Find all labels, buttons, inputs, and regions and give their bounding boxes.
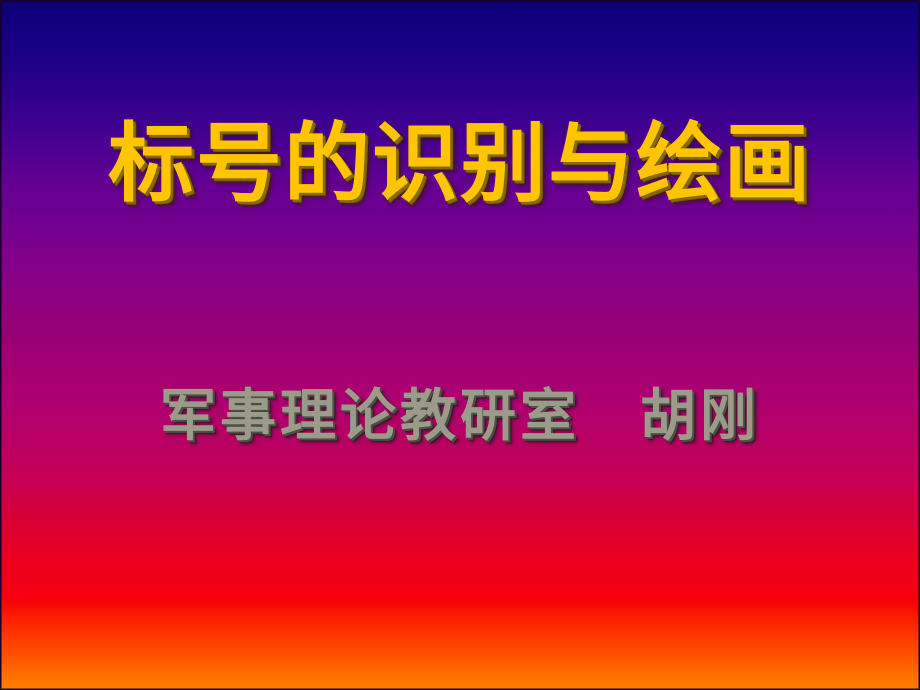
presentation-slide: 标号的识别与绘画 军事理论教研室 胡刚 (0, 0, 920, 690)
slide-content: 标号的识别与绘画 军事理论教研室 胡刚 (1, 1, 919, 689)
slide-subtitle: 军事理论教研室 胡刚 (1, 386, 919, 448)
slide-title: 标号的识别与绘画 (1, 119, 919, 210)
